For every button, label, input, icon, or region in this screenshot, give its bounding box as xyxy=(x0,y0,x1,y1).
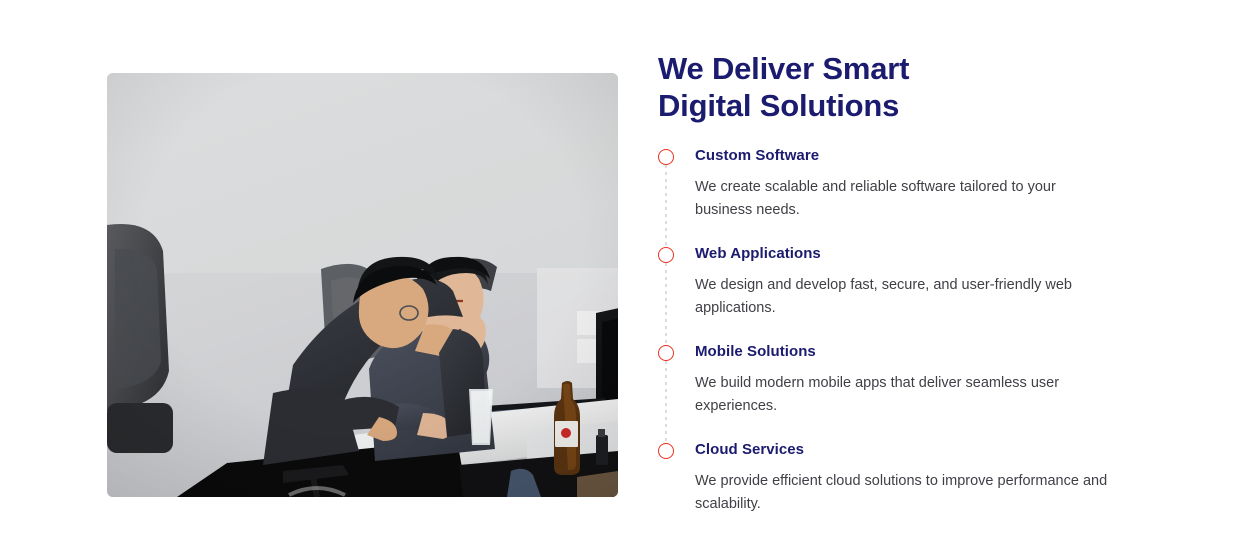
services-content: We Deliver Smart Digital Solutions Custo… xyxy=(658,50,1158,516)
circle-outline-icon xyxy=(658,247,674,263)
circle-outline-icon xyxy=(658,345,674,361)
service-description: We build modern mobile apps that deliver… xyxy=(695,372,1115,418)
timeline-connector-dotted-line xyxy=(665,361,667,444)
page-title: We Deliver Smart Digital Solutions xyxy=(658,50,1158,124)
circle-outline-icon xyxy=(658,149,674,165)
circle-outline-icon xyxy=(658,443,674,459)
office-team-photo xyxy=(107,73,618,497)
service-item-cloud-services[interactable]: Cloud Services We provide efficient clou… xyxy=(658,440,1158,516)
service-description: We provide efficient cloud solutions to … xyxy=(695,470,1115,516)
service-description: We design and develop fast, secure, and … xyxy=(695,274,1115,320)
timeline-connector-dotted-line xyxy=(665,165,667,248)
service-title: Cloud Services xyxy=(695,440,1158,460)
service-item-custom-software[interactable]: Custom Software We create scalable and r… xyxy=(658,146,1158,244)
office-team-photo-illustration xyxy=(107,73,618,497)
service-item-mobile-solutions[interactable]: Mobile Solutions We build modern mobile … xyxy=(658,342,1158,440)
timeline-connector-dotted-line xyxy=(665,263,667,346)
services-timeline: Custom Software We create scalable and r… xyxy=(658,146,1158,516)
service-item-web-applications[interactable]: Web Applications We design and develop f… xyxy=(658,244,1158,342)
service-title: Mobile Solutions xyxy=(695,342,1158,362)
service-title: Custom Software xyxy=(695,146,1158,166)
service-description: We create scalable and reliable software… xyxy=(695,176,1115,222)
service-title: Web Applications xyxy=(695,244,1158,264)
